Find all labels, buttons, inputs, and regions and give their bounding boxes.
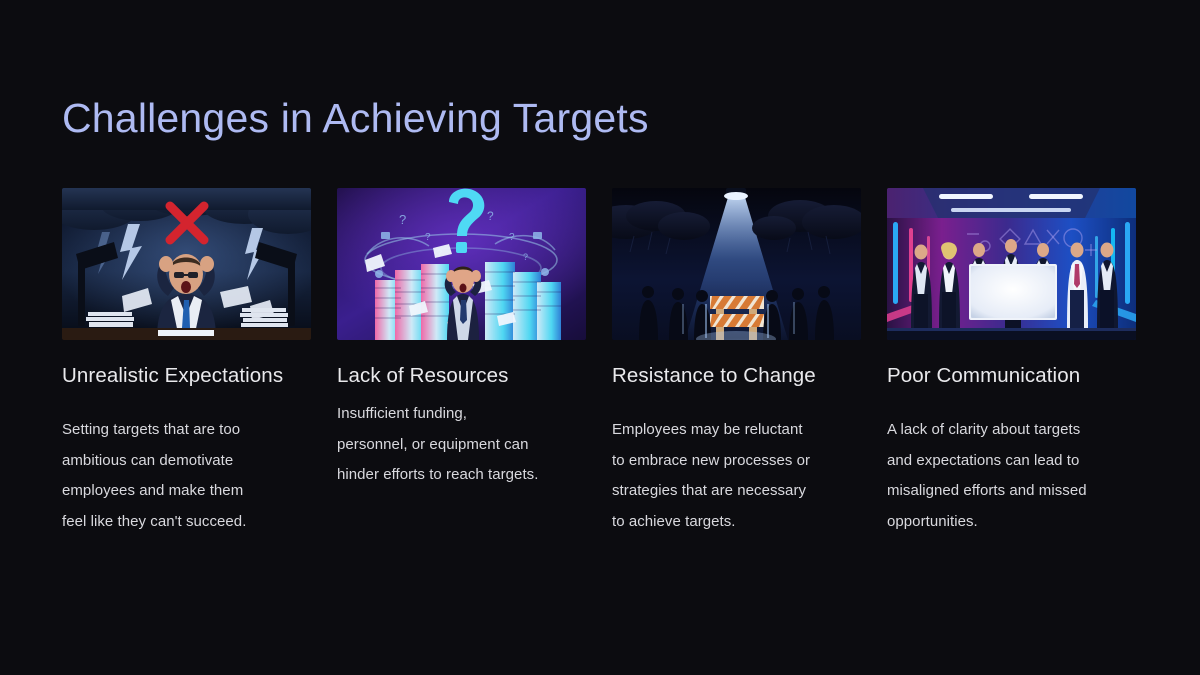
road-barrier-spotlight-silhouettes-image: [612, 188, 861, 340]
card-body: A lack of clarity about targets and expe…: [887, 415, 1136, 537]
card-body: Employees may be reluctant to embrace ne…: [612, 415, 861, 537]
challenge-card-unrealistic-expectations[interactable]: Unrealistic Expectations Setting targets…: [62, 188, 311, 537]
stressed-businessman-storm-red-x-image: [62, 188, 311, 340]
slide-canvas: Challenges in Achieving Targets: [0, 0, 1200, 675]
card-body: Setting targets that are too ambitious c…: [62, 415, 311, 537]
svg-text:?: ?: [399, 212, 406, 227]
page-title: Challenges in Achieving Targets: [62, 93, 649, 143]
challenge-card-resistance-to-change[interactable]: Resistance to Change Employees may be re…: [612, 188, 861, 537]
svg-text:?: ?: [523, 252, 528, 262]
challenge-card-lack-of-resources[interactable]: ? ? ? ? ? ?: [337, 188, 586, 491]
card-body: Insufficient funding, personnel, or equi…: [337, 399, 586, 491]
card-heading: Poor Communication: [887, 363, 1136, 389]
paper-stacks-question-mark-image: ? ? ? ? ? ?: [337, 188, 586, 340]
svg-text:?: ?: [487, 209, 494, 223]
challenge-card-poor-communication[interactable]: Poor Communication A lack of clarity abo…: [887, 188, 1136, 537]
svg-text:?: ?: [509, 232, 515, 243]
card-heading: Lack of Resources: [337, 363, 586, 389]
challenge-card-grid: Unrealistic Expectations Setting targets…: [62, 188, 1138, 537]
svg-text:?: ?: [425, 232, 431, 243]
card-heading: Resistance to Change: [612, 363, 861, 389]
neon-office-team-blank-screen-image: [887, 188, 1136, 340]
card-heading: Unrealistic Expectations: [62, 363, 311, 389]
